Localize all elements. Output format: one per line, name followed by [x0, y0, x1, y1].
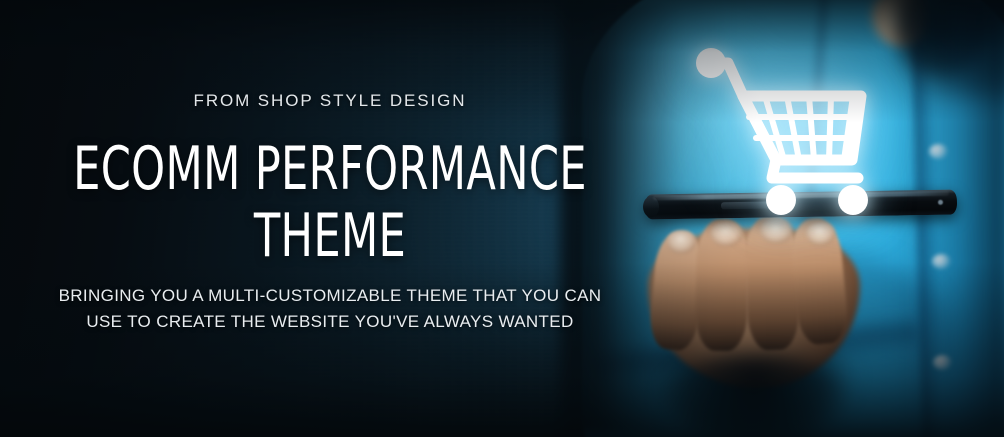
- banner-text-column: FROM SHOP STYLE DESIGN ECOMM PERFORMANCE…: [0, 0, 660, 437]
- banner-subheadline: BRINGING YOU A MULTI-CUSTOMIZABLE THEME …: [0, 283, 660, 335]
- banner-eyebrow: FROM SHOP STYLE DESIGN: [0, 91, 660, 111]
- banner-headline: ECOMM PERFORMANCE THEME: [66, 136, 594, 270]
- hero-banner: FROM SHOP STYLE DESIGN ECOMM PERFORMANCE…: [0, 0, 1004, 437]
